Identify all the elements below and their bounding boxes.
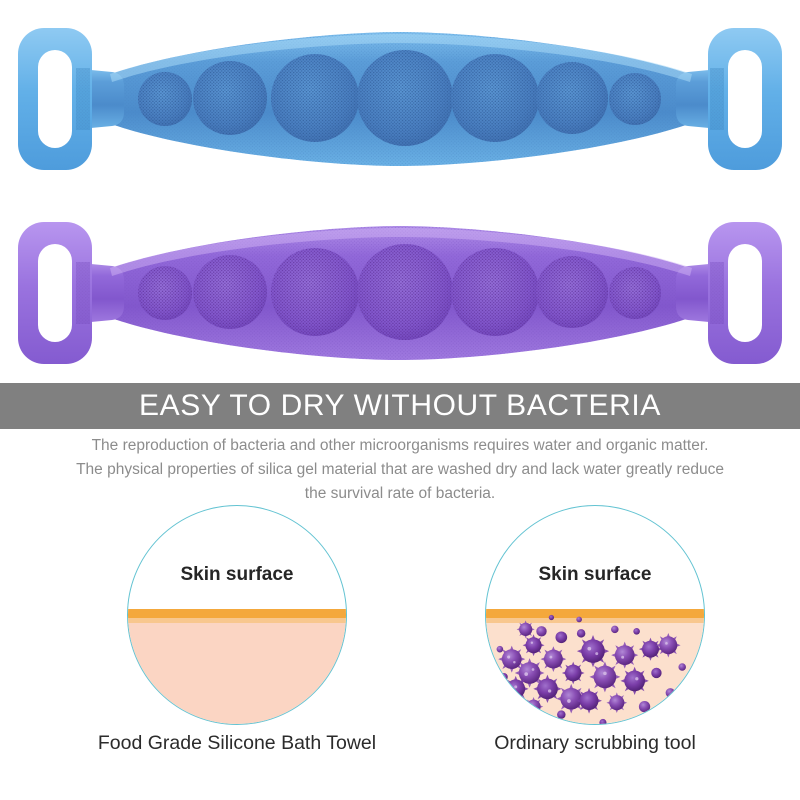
skin-surface-label-right: Skin surface (486, 564, 704, 586)
purple-handle-right (708, 222, 782, 364)
purple-handle-left (18, 222, 92, 364)
skin-surface-label-left: Skin surface (128, 564, 346, 586)
headline-banner: EASY TO DRY WITHOUT BACTERIA (0, 383, 800, 429)
skin-cross-section-clean: Skin surface (127, 505, 347, 725)
description-line-1: The reproduction of bacteria and other m… (24, 434, 776, 458)
skin-cross-section-bacteria: Skin surface (485, 505, 705, 725)
blue-handle-left (18, 28, 92, 170)
dermis-layer-clean (128, 623, 346, 724)
blue-strap-illustration (0, 6, 800, 181)
comparison-panel-ordinary-scrubbing-tool: Skin surface Ordinary scrubbing tool (415, 500, 775, 800)
blue-silicone-bath-strap (0, 6, 800, 181)
skin-surface-line (128, 609, 346, 618)
blue-handle-right (708, 28, 782, 170)
product-photo-area (0, 0, 800, 383)
caption-food-grade-silicone: Food Grade Silicone Bath Towel (57, 732, 417, 755)
skin-surface-line-soft (128, 618, 346, 623)
purple-silicone-bath-strap (0, 196, 800, 376)
banner-title: EASY TO DRY WITHOUT BACTERIA (139, 391, 661, 421)
bacteria-colony-illustration (486, 611, 704, 725)
comparison-section: Skin surface Food Grade Silicone Bath To… (0, 500, 800, 800)
purple-strap-illustration (0, 196, 800, 376)
caption-ordinary-scrubbing-tool: Ordinary scrubbing tool (415, 732, 775, 755)
description-line-2: The physical properties of silica gel ma… (24, 458, 776, 482)
description-paragraph: The reproduction of bacteria and other m… (24, 434, 776, 506)
product-infographic-page: EASY TO DRY WITHOUT BACTERIA The reprodu… (0, 0, 800, 800)
comparison-panel-food-grade-silicone: Skin surface Food Grade Silicone Bath To… (57, 500, 417, 800)
